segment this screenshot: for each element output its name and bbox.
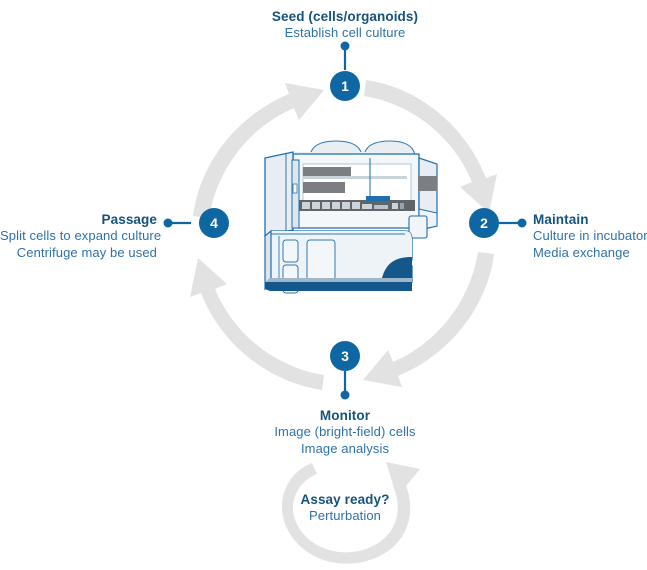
step-label-passage-line-1: Split cells to expand culture [0, 228, 157, 245]
step-label-seed-title: Seed (cells/organoids) [195, 8, 495, 25]
step-label-seed: Seed (cells/organoids) Establish cell cu… [195, 8, 495, 42]
step-label-passage-title: Passage [0, 211, 157, 228]
connector-layer [0, 0, 647, 570]
step-label-passage: Passage Split cells to expand culture Ce… [0, 211, 157, 262]
workflow-diagram: 1 2 3 4 Seed (cells/organoids) Establish… [0, 0, 647, 570]
step-label-passage-line-2: Centrifuge may be used [0, 245, 157, 262]
assay-ready-label: Assay ready? Perturbation [245, 491, 445, 525]
step-label-monitor-title: Monitor [195, 407, 495, 424]
connector-dot-step1 [341, 42, 350, 51]
step-circle-3[interactable]: 3 [330, 341, 360, 371]
connector-dot-step4 [164, 219, 173, 228]
step-label-maintain-line-1: Culture in incubator [533, 228, 647, 245]
step-circle-2[interactable]: 2 [469, 208, 499, 238]
step-label-seed-line-1: Establish cell culture [195, 25, 495, 42]
step-label-maintain-line-2: Media exchange [533, 245, 647, 262]
assay-ready-title: Assay ready? [245, 491, 445, 508]
step-circle-4[interactable]: 4 [199, 208, 229, 238]
step-label-monitor-line-2: Image analysis [195, 441, 495, 458]
step-label-maintain-title: Maintain [533, 211, 647, 228]
connector-dot-step3 [341, 391, 350, 400]
step-label-monitor: Monitor Image (bright-field) cells Image… [195, 407, 495, 458]
assay-ready-line-1: Perturbation [245, 508, 445, 525]
step-circle-1[interactable]: 1 [330, 71, 360, 101]
step-label-maintain: Maintain Culture in incubator Media exch… [533, 211, 647, 262]
connector-dot-step2 [518, 219, 527, 228]
step-label-monitor-line-1: Image (bright-field) cells [195, 424, 495, 441]
